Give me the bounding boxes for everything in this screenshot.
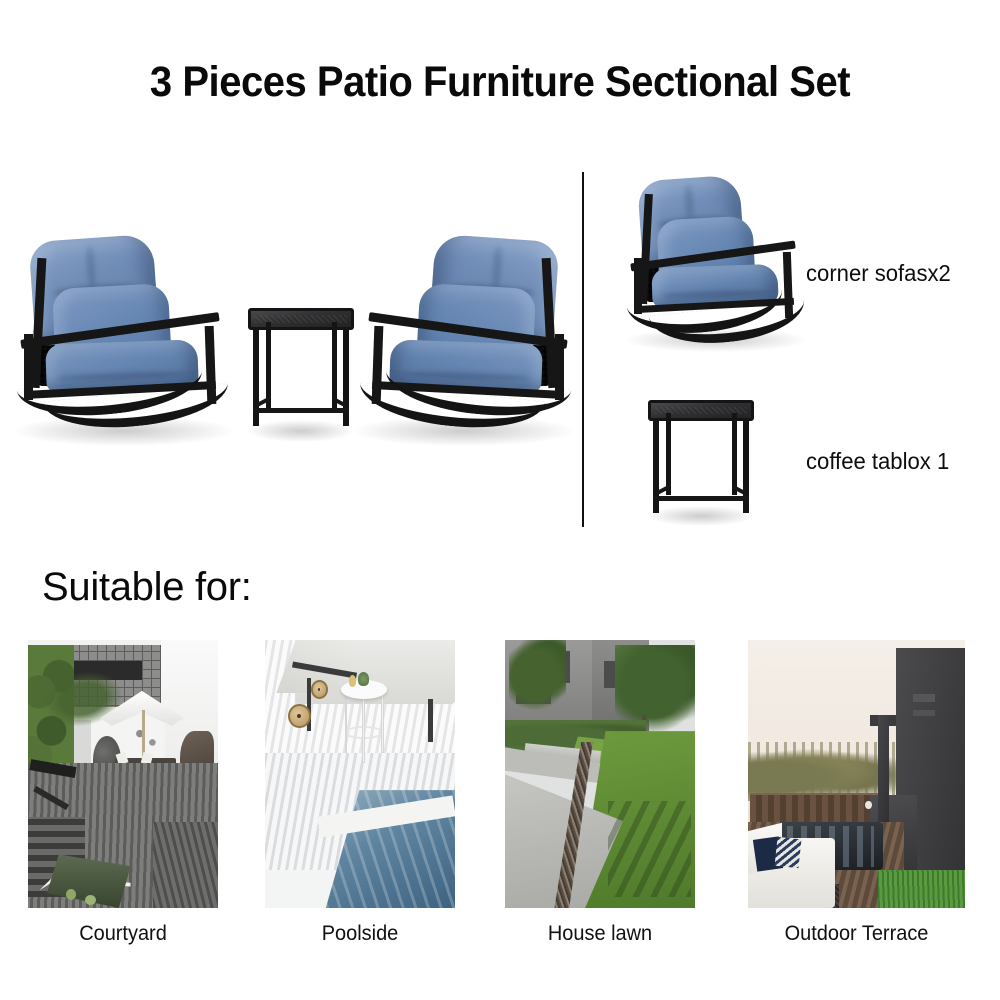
poolside-succulent — [358, 672, 369, 685]
scene-gallery: Courtyard — [0, 640, 1000, 950]
terrace-artificial-turf — [878, 870, 965, 908]
scene-photo-house-lawn — [505, 640, 695, 908]
scene-caption-outdoor-terrace: Outdoor Terrace — [753, 922, 959, 946]
table-leg-back-right — [332, 322, 337, 408]
outdoor-terrace-scene — [748, 640, 965, 908]
terrace-lamp — [865, 801, 872, 809]
poolside-scene — [265, 640, 455, 908]
scene-photo-outdoor-terrace — [748, 640, 965, 908]
component-label-coffee-table: coffee tablox 1 — [806, 448, 949, 475]
table-glass-top — [248, 308, 354, 330]
table-leg-back-left — [666, 413, 671, 495]
suitable-for-heading: Suitable for: — [42, 565, 252, 610]
component-chair-thumbnail — [622, 172, 812, 352]
house-lawn-scene — [505, 640, 695, 908]
section-divider — [582, 172, 584, 527]
terrace-chimney-detail — [913, 694, 935, 702]
courtyard-lily-pad — [66, 889, 76, 900]
scene-photo-poolside — [265, 640, 455, 908]
table-leg-back-left — [266, 322, 271, 408]
poolside-lounger-wheel — [311, 680, 328, 699]
scene-caption-poolside: Poolside — [270, 922, 451, 946]
poolside-lounger-leg — [428, 699, 432, 742]
page-title: 3 Pieces Patio Furniture Sectional Set — [35, 58, 965, 107]
component-label-corner-sofas: corner sofasx2 — [806, 260, 951, 287]
terrace-chevron-pillow — [775, 837, 802, 869]
coffee-table-center — [248, 308, 354, 434]
table-stretcher-front — [253, 408, 349, 413]
table-leg-back-right — [732, 413, 737, 495]
house-lawn-tree-shadow — [608, 801, 692, 897]
table-shadow — [248, 420, 354, 442]
poolside-fruit — [349, 675, 357, 687]
poolside-table-leg — [362, 694, 365, 764]
table-stretcher-front — [653, 496, 749, 501]
product-infographic: 3 Pieces Patio Furniture Sectional Set — [0, 0, 1000, 1000]
scene-photo-courtyard — [28, 640, 218, 908]
scene-caption-courtyard: Courtyard — [33, 922, 214, 946]
rocking-chair-right — [348, 230, 578, 445]
poolside-table-leg — [381, 694, 384, 753]
poolside-lounger-wheel — [288, 704, 311, 728]
table-glass-top — [648, 400, 754, 421]
terrace-chimney-detail — [913, 710, 935, 716]
poolside-table-leg — [345, 694, 348, 753]
courtyard-scene — [28, 640, 218, 908]
product-overview-section: corner sofasx2 coffee tablox 1 — [0, 160, 1000, 540]
table-shadow — [648, 506, 754, 526]
component-table-thumbnail — [648, 400, 754, 520]
scene-caption-house-lawn: House lawn — [510, 922, 691, 946]
courtyard-deck-lower — [153, 822, 218, 908]
house-lawn-tree-left — [509, 640, 566, 720]
rocking-chair-left — [10, 230, 240, 445]
